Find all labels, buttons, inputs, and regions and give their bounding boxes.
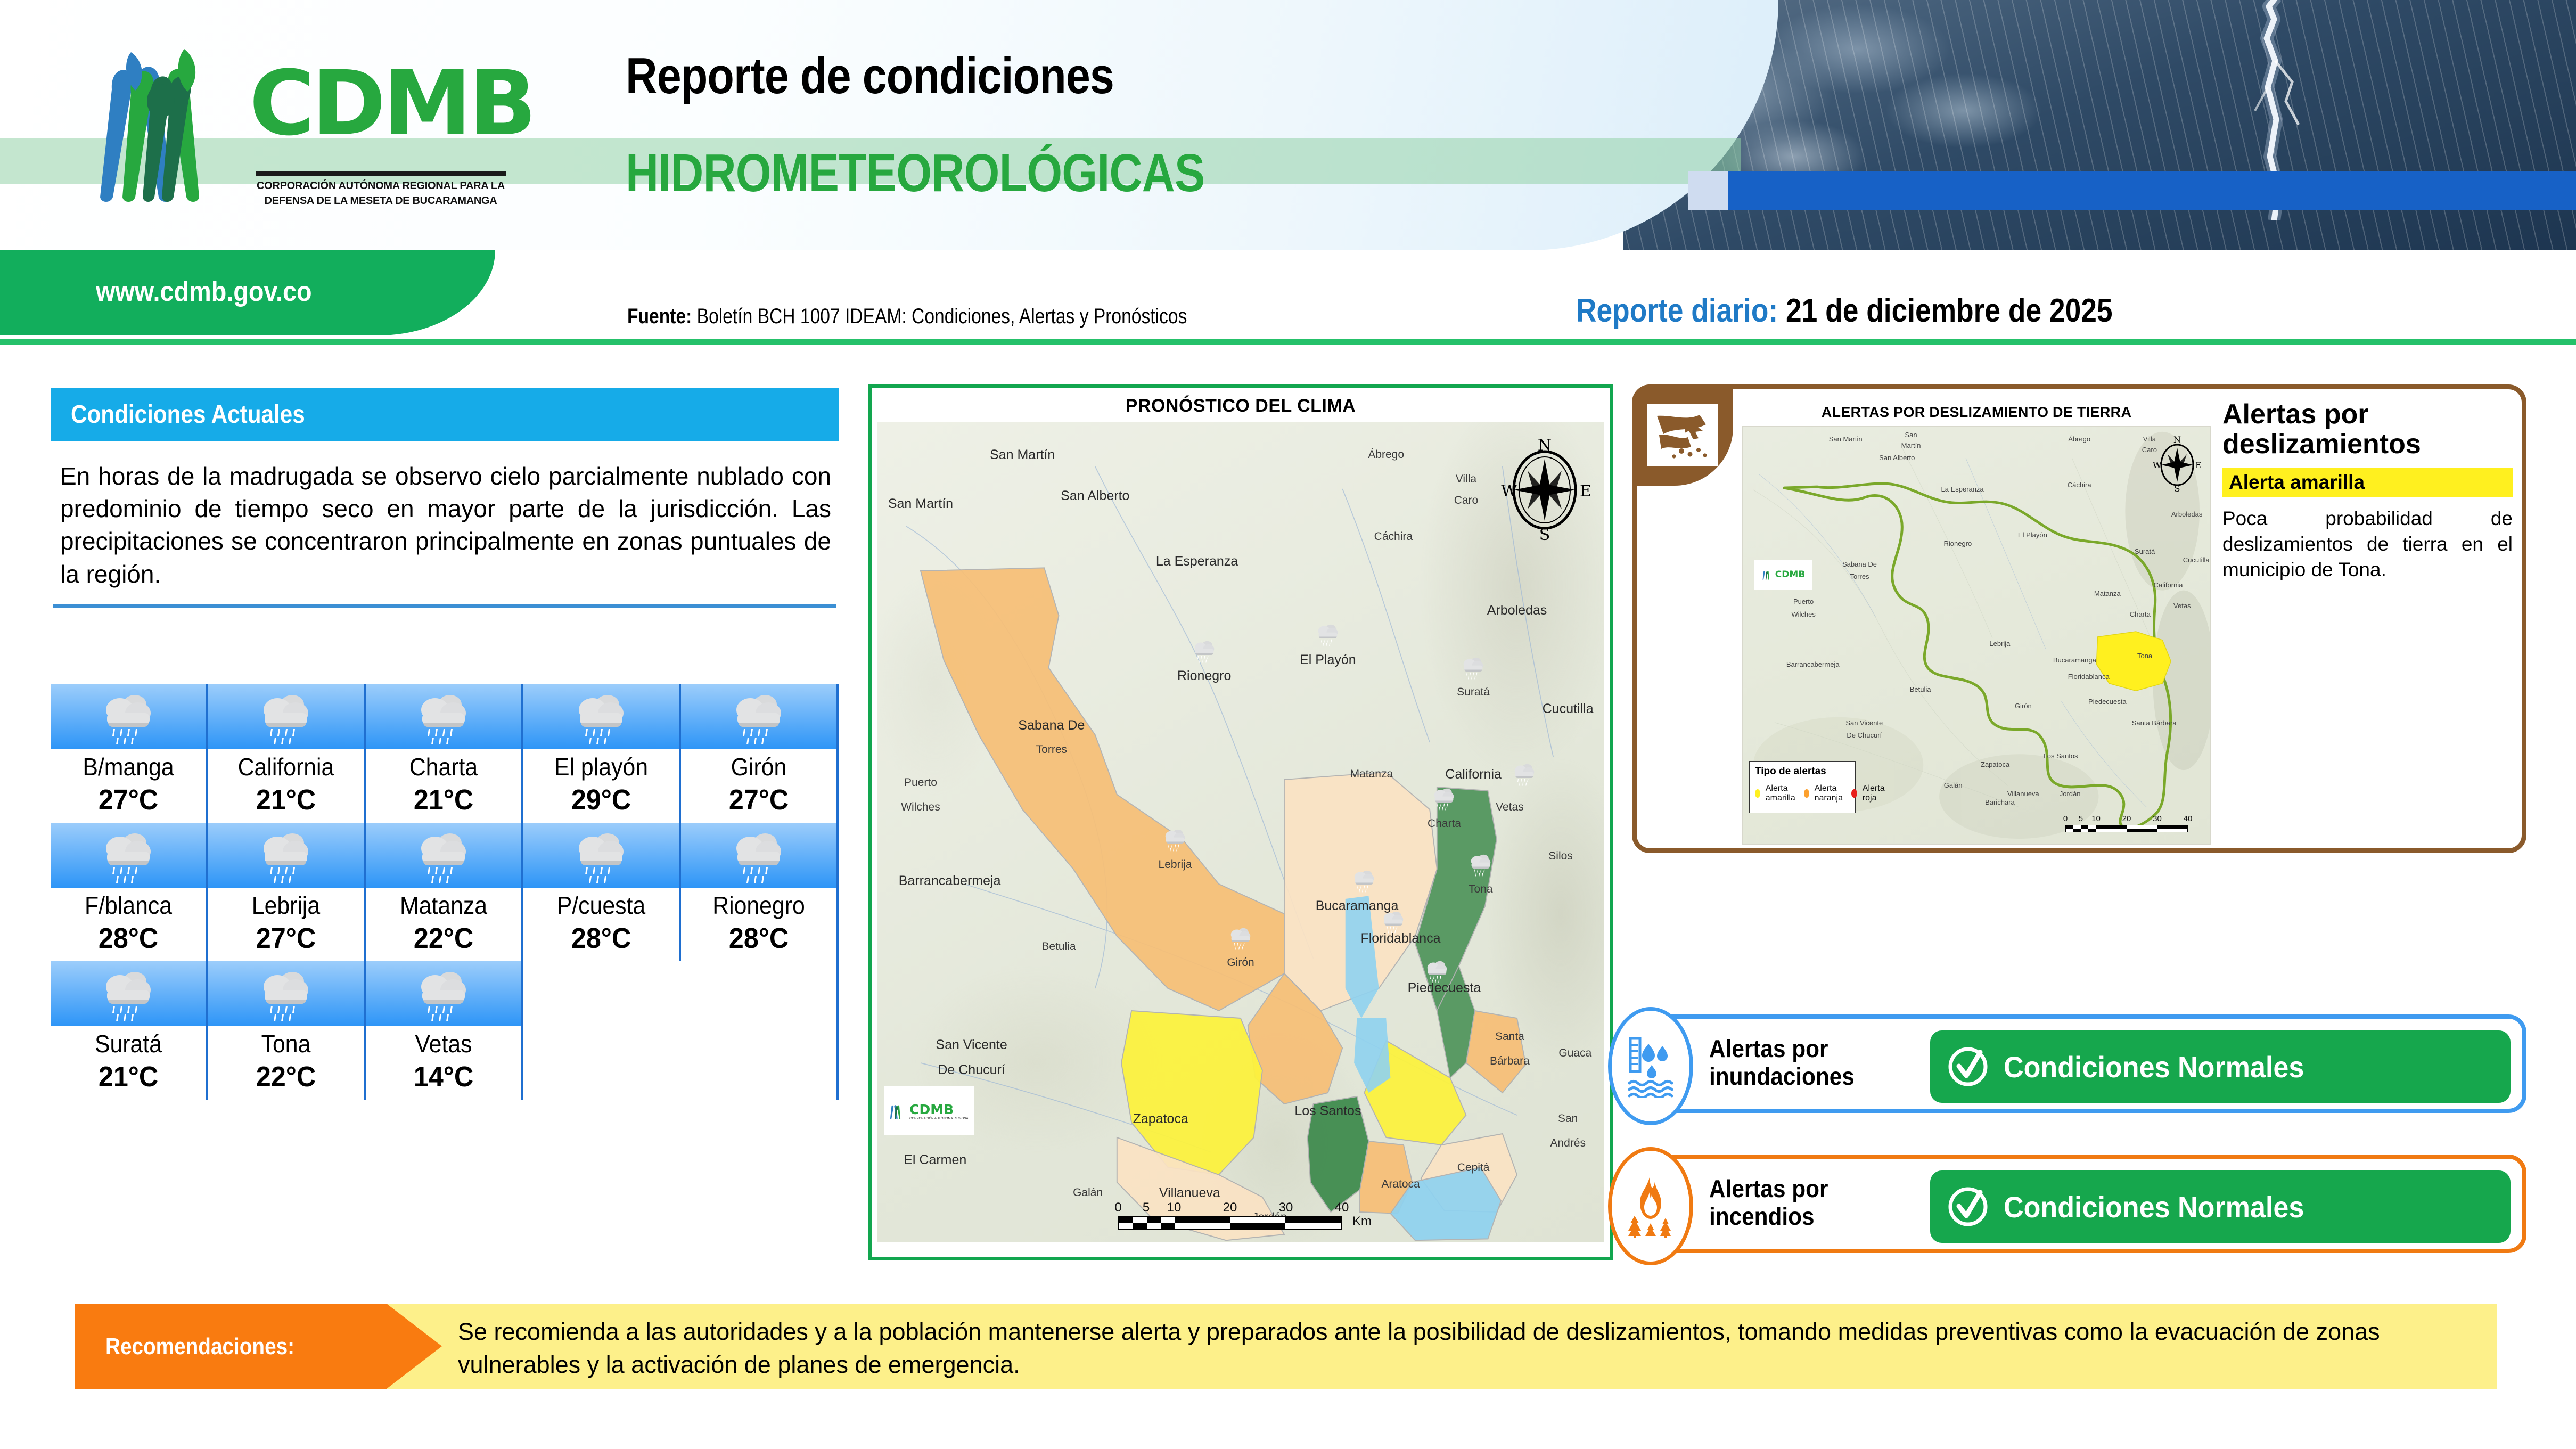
climate-map-label: San Martín [990, 447, 1055, 462]
landslide-legend: Tipo de alertas Alerta amarillaAlerta na… [1749, 761, 1856, 813]
weather-icon-box [366, 961, 521, 1026]
weather-icon-box [51, 684, 206, 749]
weather-meta: F/blanca28°C [51, 888, 206, 961]
scalebar-tick: 20 [1223, 1200, 1237, 1215]
weather-row: B/manga27°CCalifornia21°CCharta21°CEl pl… [51, 684, 839, 823]
climate-map-label: Vetas [1496, 801, 1524, 814]
weather-icon-box [681, 823, 836, 888]
climate-map-label: San [1558, 1112, 1578, 1125]
weather-temperature: 28°C [56, 922, 201, 955]
weather-cell[interactable]: Matanza22°C [366, 823, 523, 961]
current-conditions-title: Condiciones Actuales [71, 400, 305, 429]
flood-alert-bar: Alertas por inundaciones Condiciones Nor… [1645, 1014, 2526, 1113]
landslide-map-label: San Vicente [1845, 719, 1883, 726]
landslide-scalebar: 0510203040 [2065, 814, 2198, 832]
weather-icon-box [51, 823, 206, 888]
climate-map-label: Lebrija [1159, 858, 1192, 871]
landslide-alerts-panel: ALERTAS POR DESLIZAMIENTO DE TIERRA [1632, 384, 2526, 853]
landslide-scalebar-tick: 40 [2184, 814, 2193, 823]
weather-temperature: 22°C [214, 1060, 358, 1093]
weather-cell[interactable]: El playón29°C [523, 684, 681, 823]
rain-cloud-icon [568, 829, 634, 885]
weather-meta: El playón29°C [523, 749, 679, 823]
legend-label: Alerta roja [1863, 784, 1888, 803]
rain-cloud-icon [95, 691, 161, 746]
recommendations-label: Recomendaciones: [105, 1333, 294, 1360]
landslide-icon [1654, 410, 1711, 461]
landslide-map-label: La Esperanza [1941, 485, 1984, 493]
landslide-map-label: Ábrego [2068, 435, 2090, 443]
climate-map-label: Andrés [1550, 1137, 1586, 1150]
report-date-label: Reporte diario: [1576, 292, 1778, 329]
cdmb-mark-mini-icon [1761, 566, 1773, 583]
climate-map-label: Bárbara [1490, 1055, 1530, 1068]
current-conditions-body: En horas de la madrugada se observo ciel… [51, 441, 839, 591]
legend-swatch [1755, 789, 1760, 798]
climate-map-label: Aratoca [1381, 1178, 1420, 1191]
weather-cell[interactable]: Lebrija27°C [208, 823, 366, 961]
flood-icon-circle [1608, 1007, 1693, 1125]
recommendations-text: Se recomienda a las autoridades y a la p… [458, 1315, 2476, 1381]
landslide-map-label: Lebrija [1989, 640, 2010, 648]
current-conditions-header: Condiciones Actuales [51, 388, 839, 441]
green-divider [0, 339, 2576, 345]
rain-cloud-icon [411, 691, 477, 746]
weather-meta: Vetas14°C [366, 1026, 521, 1100]
climate-map-label: De Chucurí [938, 1062, 1005, 1077]
report-date-value: 21 de diciembre de 2025 [1786, 292, 2113, 329]
map-rain-cloud-icon [1314, 623, 1342, 647]
rain-cloud-icon [95, 968, 161, 1023]
landslide-scalebar-tick: 0 [2063, 814, 2068, 823]
flood-status-text: Condiciones Normales [2004, 1050, 2304, 1084]
check-circle-icon [1945, 1044, 1991, 1090]
landslide-map-label: Puerto [1793, 598, 1814, 605]
weather-icon-box [208, 961, 364, 1026]
landslide-text-block: Alertas por deslizamientos Alerta amaril… [2222, 400, 2513, 583]
landslide-map-label: Girón [2015, 702, 2032, 710]
climate-map-label: Arboledas [1487, 603, 1547, 618]
weather-icon-box [523, 961, 681, 1026]
landslide-map-title: ALERTAS POR DESLIZAMIENTO DE TIERRA [1742, 398, 2211, 421]
climate-map-label: Suratá [1457, 686, 1490, 699]
weather-municipality: Lebrija [214, 891, 358, 920]
landslide-legend-title: Tipo de alertas [1755, 766, 1850, 777]
rain-cloud-icon [1350, 869, 1379, 893]
landslide-map-canvas: San MartinSanMartínSan AlbertoÁbregoVill… [1742, 426, 2211, 845]
climate-map-label: Cucutilla [1543, 701, 1594, 716]
climate-map-label: El Playón [1300, 652, 1356, 667]
landslide-map-label: El Playón [2018, 531, 2047, 539]
weather-meta: P/cuesta28°C [523, 888, 679, 961]
weather-cell[interactable]: Rionegro28°C [681, 823, 839, 961]
weather-icon-box [51, 961, 206, 1026]
climate-map-logo-sub: CORPORACIÓN AUTÓNOMA REGIONAL [909, 1117, 970, 1120]
weather-meta: Girón27°C [681, 749, 836, 823]
weather-icon-box [366, 684, 521, 749]
landslide-map-label: Zapatoca [1981, 761, 2009, 768]
compass-n: N [1538, 436, 1552, 455]
weather-meta: California21°C [208, 749, 364, 823]
logo-subtitle-1: CORPORACIÓN AUTÓNOMA REGIONAL PARA LA [256, 180, 506, 192]
rain-cloud-icon [1466, 853, 1495, 877]
report-title-line1: Reporte de condiciones [626, 47, 1114, 105]
weather-icon-box [523, 684, 679, 749]
climate-map-label: La Esperanza [1156, 554, 1238, 569]
current-conditions-panel: Condiciones Actuales En horas de la madr… [51, 388, 839, 608]
weather-cell[interactable]: B/manga27°C [51, 684, 208, 823]
weather-cell[interactable]: Vetas14°C [366, 961, 523, 1100]
landslide-scalebar-tick: 10 [2091, 814, 2101, 823]
landslide-compass-icon: N S W E [2152, 435, 2203, 493]
landslide-legend-item: Alerta amarilla [1755, 784, 1799, 803]
weather-municipality: B/manga [56, 752, 201, 781]
rain-cloud-icon [1510, 762, 1539, 787]
weather-meta: Matanza22°C [366, 888, 521, 961]
rain-cloud-icon [1430, 787, 1458, 811]
map-rain-cloud-icon [1430, 787, 1458, 811]
legend-label: Alerta naranja [1815, 784, 1847, 803]
climate-map-label: Cepitá [1457, 1162, 1490, 1175]
compass-rose-icon: N S W E [1497, 436, 1593, 542]
landslide-map-label: Wilches [1791, 611, 1816, 618]
fire-status-text: Condiciones Normales [2004, 1190, 2304, 1224]
weather-meta: Charta21°C [366, 749, 521, 823]
weather-icon-box [681, 961, 836, 1026]
weather-temperature: 21°C [214, 783, 358, 816]
weather-icon-box [681, 684, 836, 749]
landslide-map-label: Betulia [1910, 686, 1931, 693]
legend-swatch [1804, 789, 1809, 798]
landslide-scalebar-tick: 20 [2122, 814, 2131, 823]
flood-alert-label: Alertas por inundaciones [1709, 1035, 1871, 1091]
fire-alert-label: Alertas por incendios [1709, 1175, 1871, 1231]
weather-temperature: 22°C [371, 922, 516, 955]
landslide-map-label: Jordán [2060, 790, 2081, 798]
climate-map-label: Betulia [1041, 940, 1076, 953]
landslide-map-label: Arboledas [2171, 510, 2203, 518]
weather-municipality: F/blanca [56, 891, 201, 920]
rain-cloud-icon [1190, 639, 1219, 664]
source-line: Fuente: Boletín BCH 1007 IDEAM: Condicio… [627, 305, 1187, 329]
rain-cloud-icon [253, 829, 319, 885]
rain-cloud-icon [726, 691, 792, 746]
scalebar-units: Km [1352, 1214, 1372, 1229]
climate-map-label: Caro [1454, 494, 1479, 507]
climate-map-logo: CDMB CORPORACIÓN AUTÓNOMA REGIONAL [884, 1086, 974, 1135]
landslide-map-label: De Chucurí [1847, 732, 1882, 739]
climate-map-label: Barrancabermeja [899, 873, 1001, 888]
landslide-map-label: Matanza [2094, 590, 2121, 597]
source-text: Boletín BCH 1007 IDEAM: Condiciones, Ale… [697, 305, 1187, 328]
landslide-map-label: Bucaramanga [2053, 657, 2096, 664]
map-rain-cloud-icon [1459, 656, 1488, 680]
compass-w: W [1501, 482, 1517, 501]
fire-icon-circle [1608, 1147, 1693, 1265]
weather-temperature: 21°C [56, 1060, 201, 1093]
rain-cloud-icon [1459, 656, 1488, 680]
report-date-line: Reporte diario: 21 de diciembre de 2025 [1576, 292, 2113, 330]
climate-map-label: San Vicente [936, 1037, 1007, 1052]
weather-meta: B/manga27°C [51, 749, 206, 823]
section-rule [53, 604, 836, 608]
compass-e: E [1580, 482, 1591, 501]
logo-text: CDMB [249, 59, 534, 148]
climate-map-label: Guaca [1558, 1047, 1591, 1060]
climate-map-label: Los Santos [1294, 1103, 1361, 1118]
landslide-map-label: Torres [1850, 573, 1869, 580]
ls-compass-e: E [2195, 460, 2202, 470]
website-url[interactable]: www.cdmb.gov.co [96, 276, 312, 308]
landslide-map-label: Piedecuesta [2088, 698, 2127, 706]
rain-cloud-icon [253, 968, 319, 1023]
weather-cell[interactable]: P/cuesta28°C [523, 823, 681, 961]
weather-municipality: Charta [371, 752, 516, 781]
landslide-map-label: Galán [1944, 782, 1963, 789]
map-rain-cloud-icon [1423, 959, 1451, 984]
scalebar-bar: Km [1118, 1216, 1342, 1230]
map-rain-cloud-icon [1379, 910, 1408, 934]
landslide-legend-item: Alerta roja [1851, 784, 1888, 803]
climate-map-label: California [1445, 767, 1502, 782]
landslide-map[interactable]: ALERTAS POR DESLIZAMIENTO DE TIERRA [1742, 398, 2211, 845]
rain-cloud-icon [411, 829, 477, 885]
landslide-map-label: Cáchira [2068, 481, 2091, 489]
cdmb-logo: CDMB CORPORACIÓN AUTÓNOMA REGIONAL PARA … [80, 37, 559, 208]
map-rain-cloud-icon [1161, 828, 1189, 852]
weather-temperature: 29°C [529, 783, 674, 816]
weather-municipality: Suratá [56, 1029, 201, 1058]
wildfire-icon [1625, 1174, 1676, 1238]
weather-cell[interactable]: Girón27°C [681, 684, 839, 823]
weather-municipality: P/cuesta [529, 891, 674, 920]
weather-icon-box [208, 684, 364, 749]
ls-compass-s: S [2175, 484, 2180, 493]
landslide-map-label: Charta [2130, 611, 2151, 618]
weather-cell[interactable]: Tona22°C [208, 961, 366, 1100]
page-header: CDMB CORPORACIÓN AUTÓNOMA REGIONAL PARA … [0, 0, 2576, 250]
header-blue-band [1728, 171, 2576, 210]
cdmb-mark-small-icon [888, 1098, 906, 1124]
weather-temperature: 28°C [686, 922, 831, 955]
weather-temperature: 27°C [214, 922, 358, 955]
scalebar-tick: 0 [1114, 1200, 1121, 1215]
weather-meta: Lebrija27°C [208, 888, 364, 961]
rain-cloud-icon [1161, 828, 1189, 852]
landslide-heading: Alertas por deslizamientos [2222, 400, 2513, 459]
climate-map-label: San Martín [888, 496, 953, 511]
map-rain-cloud-icon [1190, 639, 1219, 664]
scalebar-tick: 40 [1335, 1200, 1349, 1215]
climate-map-label: Matanza [1350, 768, 1393, 781]
flood-status-pill: Condiciones Normales [1930, 1030, 2511, 1103]
compass-s: S [1539, 526, 1550, 542]
report-page: CDMB CORPORACIÓN AUTÓNOMA REGIONAL PARA … [0, 0, 2576, 1449]
weather-row: F/blanca28°CLebrija27°CMatanza22°CP/cues… [51, 823, 839, 961]
weather-meta: Suratá21°C [51, 1026, 206, 1100]
rain-cloud-icon [1423, 959, 1451, 984]
landslide-map-label: San Alberto [1879, 454, 1915, 462]
landslide-map-label: Cucutilla [2183, 556, 2210, 564]
climate-map-label: Charta [1428, 817, 1461, 830]
climate-map-label: Zapatoca [1133, 1111, 1188, 1126]
climate-forecast-map: PRONÓSTICO DEL CLIMA [868, 384, 1613, 1260]
weather-cell[interactable]: California21°C [208, 684, 366, 823]
fire-alert-bar: Alertas por incendios Condiciones Normal… [1645, 1155, 2526, 1253]
cdmb-logo-mark [80, 37, 256, 208]
landslide-map-label: Sabana De [1842, 561, 1877, 568]
recommendations-bar: Recomendaciones: Se recomienda a las aut… [75, 1304, 2497, 1389]
weather-municipality: Matanza [371, 891, 516, 920]
landslide-map-label: Rionegro [1943, 539, 1972, 547]
climate-map-label: Girón [1227, 957, 1254, 970]
landslide-map-label: Los Santos [2044, 752, 2078, 760]
climate-map-label: Santa [1495, 1030, 1524, 1043]
scalebar-tick: 30 [1279, 1200, 1293, 1215]
weather-municipality: El playón [529, 752, 674, 781]
landslide-map-label: San [1905, 431, 1917, 439]
weather-municipality: California [214, 752, 358, 781]
weather-icon-box [208, 823, 364, 888]
landslide-scalebar-bar [2065, 825, 2188, 832]
weather-cell-empty [681, 961, 839, 1100]
climate-map-label: Tona [1469, 883, 1493, 896]
check-circle-icon [1945, 1184, 1991, 1230]
weather-row: Suratá21°CTona22°CVetas14°C [51, 961, 839, 1100]
flood-gauge-icon [1625, 1034, 1676, 1098]
weather-cell[interactable]: Suratá21°C [51, 961, 208, 1100]
climate-map-label: Villa [1456, 473, 1476, 486]
rain-cloud-icon [1379, 910, 1408, 934]
weather-municipality: Rionegro [686, 891, 831, 920]
rain-cloud-icon [726, 829, 792, 885]
map-rain-cloud-icon [1226, 926, 1255, 951]
fire-status-pill: Condiciones Normales [1930, 1170, 2511, 1243]
landslide-map-logo: CDMB [1754, 560, 1812, 590]
climate-map-label: Villanueva [1159, 1185, 1220, 1200]
landslide-scalebar-tick: 5 [2079, 814, 2083, 823]
rain-cloud-icon [1226, 926, 1255, 951]
legend-swatch [1851, 789, 1857, 798]
landslide-badge [1632, 384, 1733, 486]
landslide-scalebar-tick: 30 [2153, 814, 2162, 823]
climate-map-label: Sabana De [1018, 718, 1085, 733]
rain-cloud-icon [95, 829, 161, 885]
weather-temperature: 27°C [686, 783, 831, 816]
landslide-map-label: Villanueva [2007, 790, 2039, 798]
weather-icon-box [523, 823, 679, 888]
rain-cloud-icon [1314, 623, 1342, 647]
climate-map-title: PRONÓSTICO DEL CLIMA [872, 388, 1610, 422]
climate-map-label: Rionegro [1177, 668, 1231, 683]
info-ribbon: www.cdmb.gov.co [0, 250, 2576, 351]
rain-cloud-icon [411, 968, 477, 1023]
landslide-alert-level: Alerta amarilla [2222, 468, 2513, 497]
weather-temperature: 14°C [371, 1060, 516, 1093]
climate-map-label: Silos [1548, 850, 1573, 863]
climate-map-logo-text: CDMB [909, 1102, 970, 1117]
ls-compass-n: N [2173, 435, 2181, 445]
landslide-map-logo-text: CDMB [1775, 569, 1805, 580]
weather-municipality: Tona [214, 1029, 358, 1058]
landslide-map-label: Floridablanca [2068, 673, 2110, 681]
weather-temperature: 21°C [371, 783, 516, 816]
map-rain-cloud-icon [1466, 853, 1495, 877]
weather-temperature: 27°C [56, 783, 201, 816]
climate-map-label: Puerto [904, 776, 937, 789]
map-rain-cloud-icon [1510, 762, 1539, 787]
landslide-alert-body: Poca probabilidad de deslizamientos de t… [2222, 506, 2513, 583]
ls-compass-w: W [2153, 460, 2162, 470]
landslide-map-label: Barichara [1985, 798, 2015, 806]
climate-map-label: Galán [1073, 1186, 1103, 1199]
landslide-map-label: Santa Bárbara [2132, 719, 2177, 726]
landslide-map-label: Suratá [2135, 548, 2155, 555]
weather-icon-box [366, 823, 521, 888]
weather-cell-empty [523, 961, 681, 1100]
landslide-badge-inner [1647, 404, 1718, 466]
weather-cell[interactable]: Charta21°C [366, 684, 523, 823]
climate-map-label: El Carmen [904, 1152, 966, 1167]
weather-municipality: Girón [686, 752, 831, 781]
municipal-weather-grid: B/manga27°CCalifornia21°CCharta21°CEl pl… [51, 684, 839, 1100]
landslide-map-label: San Martin [1829, 435, 1863, 443]
climate-map-label: San Alberto [1061, 488, 1129, 503]
weather-municipality: Vetas [371, 1029, 516, 1058]
weather-cell[interactable]: F/blanca28°C [51, 823, 208, 961]
landslide-map-label: California [2154, 582, 2183, 589]
logo-rule [256, 171, 506, 176]
climate-map-canvas[interactable]: San MartínSan MartínSan AlbertoLa Espera… [877, 422, 1604, 1242]
landslide-map-label: Martín [1901, 442, 1921, 449]
climate-map-regions [877, 422, 1604, 1242]
rain-cloud-icon [253, 691, 319, 746]
landslide-legend-item: Alerta naranja [1804, 784, 1846, 803]
scalebar-tick: 10 [1167, 1200, 1182, 1215]
report-title-line2: HIDROMETEOROLÓGICAS [626, 143, 1204, 204]
climate-map-label: Ábrego [1368, 448, 1404, 461]
weather-meta: Rionegro28°C [681, 888, 836, 961]
weather-temperature: 28°C [529, 922, 674, 955]
landslide-map-label: Vetas [2173, 602, 2191, 610]
climate-map-label: Wilches [901, 801, 940, 814]
weather-meta: Tona22°C [208, 1026, 364, 1100]
rain-cloud-icon [568, 691, 634, 746]
landslide-map-label: Tona [2137, 652, 2152, 660]
scalebar-tick: 5 [1143, 1200, 1150, 1215]
logo-subtitle-2: DEFENSA DE LA MESETA DE BUCARAMANGA [256, 195, 506, 207]
landslide-map-label: Barrancabermeja [1786, 661, 1840, 668]
source-label: Fuente: [627, 305, 692, 328]
climate-map-label: Cáchira [1374, 530, 1413, 543]
climate-map-label: Torres [1036, 743, 1067, 756]
map-rain-cloud-icon [1350, 869, 1379, 893]
climate-map-scalebar: 0510203040 Km [1118, 1200, 1363, 1230]
legend-label: Alerta amarilla [1766, 784, 1799, 803]
